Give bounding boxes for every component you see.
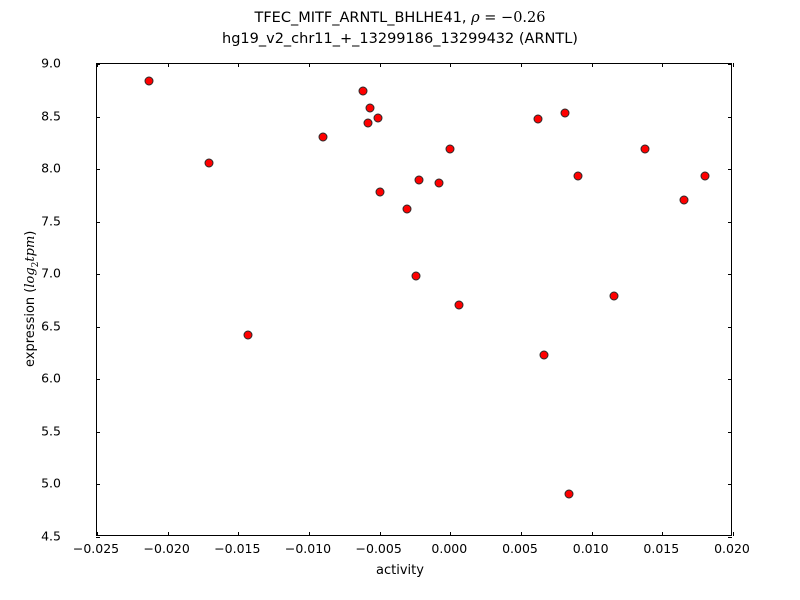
x-axis-tick-label: 0.020	[714, 541, 750, 556]
y-axis-tick-label: 7.0	[41, 266, 61, 281]
scatter-point	[145, 76, 154, 85]
x-axis-tick-label: 0.000	[431, 541, 467, 556]
x-axis-tick-top	[450, 63, 451, 67]
y-axis-tick-right	[728, 484, 732, 485]
y-axis-tick-right	[728, 327, 732, 328]
x-axis-tick-top	[592, 63, 593, 67]
y-axis-tick-label: 8.0	[41, 161, 61, 176]
scatter-point	[446, 145, 455, 154]
y-axis-label-prefix: expression (	[23, 288, 38, 367]
y-axis-tick	[96, 222, 100, 223]
scatter-point	[679, 195, 688, 204]
scatter-point	[533, 114, 542, 123]
y-axis-tick-right	[728, 64, 732, 65]
x-axis-tick-label: −0.025	[73, 541, 119, 556]
y-axis-tick	[96, 379, 100, 380]
scatter-point	[412, 272, 421, 281]
scatter-point	[319, 132, 328, 141]
scatter-point	[573, 172, 582, 181]
y-axis-tick	[96, 274, 100, 275]
scatter-point	[415, 175, 424, 184]
x-axis-tick	[97, 532, 98, 536]
y-axis-tick	[96, 169, 100, 170]
x-axis-tick	[450, 532, 451, 536]
y-axis-tick	[96, 484, 100, 485]
scatter-point	[374, 113, 383, 122]
y-axis-tick-label: 8.5	[41, 108, 61, 123]
scatter-point	[244, 331, 253, 340]
x-axis-tick-label: −0.015	[214, 541, 260, 556]
y-axis-label-tpm: tpm	[23, 236, 38, 262]
y-axis-tick	[96, 432, 100, 433]
scatter-point	[560, 109, 569, 118]
x-axis-tick-label: 0.005	[502, 541, 538, 556]
x-axis-tick-top	[168, 63, 169, 67]
scatter-point	[364, 118, 373, 127]
y-axis-tick-label: 6.0	[41, 371, 61, 386]
chart-title: TFEC_MITF_ARNTL_BHLHE41, ρ = −0.26 hg19_…	[0, 8, 800, 50]
x-axis-tick-top	[309, 63, 310, 67]
x-axis-tick-label: 0.015	[643, 541, 679, 556]
scatter-point	[375, 188, 384, 197]
plot-area	[96, 63, 732, 536]
y-axis-tick-label: 5.0	[41, 476, 61, 491]
y-axis-tick-right	[728, 222, 732, 223]
x-axis-tick	[733, 532, 734, 536]
scatter-point	[454, 300, 463, 309]
scatter-point	[358, 87, 367, 96]
scatter-point	[565, 489, 574, 498]
x-axis-tick	[168, 532, 169, 536]
y-axis-tick-label: 7.5	[41, 213, 61, 228]
scatter-point	[610, 292, 619, 301]
scatter-point	[402, 205, 411, 214]
y-axis-tick-right	[728, 169, 732, 170]
y-axis-tick-right	[728, 432, 732, 433]
rho-symbol: ρ	[471, 10, 480, 26]
scatter-point	[365, 104, 374, 113]
x-axis-tick	[592, 532, 593, 536]
scatter-point	[700, 172, 709, 181]
x-axis-tick-top	[733, 63, 734, 67]
x-axis-tick	[662, 532, 663, 536]
y-axis-tick-label: 6.5	[41, 318, 61, 333]
y-axis-tick-right	[728, 117, 732, 118]
x-axis-tick-label: 0.010	[573, 541, 609, 556]
x-axis-tick	[521, 532, 522, 536]
scatter-point	[204, 158, 213, 167]
x-axis-tick-label: −0.020	[144, 541, 190, 556]
y-axis-tick	[96, 117, 100, 118]
y-axis-tick	[96, 537, 100, 538]
chart-title-line-1: TFEC_MITF_ARNTL_BHLHE41, ρ = −0.26	[0, 8, 800, 29]
y-axis-tick	[96, 327, 100, 328]
x-axis-tick	[380, 532, 381, 536]
scatter-plot-figure: TFEC_MITF_ARNTL_BHLHE41, ρ = −0.26 hg19_…	[0, 0, 800, 600]
x-axis-tick-top	[662, 63, 663, 67]
y-axis-label-sub: 2	[31, 262, 41, 268]
scatter-point	[641, 145, 650, 154]
y-axis-tick-label: 5.5	[41, 423, 61, 438]
scatter-point	[435, 178, 444, 187]
y-axis-label-suffix: )	[23, 231, 38, 236]
y-axis-tick-label: 9.0	[41, 56, 61, 71]
y-axis-tick	[96, 64, 100, 65]
rho-value: = −0.26	[480, 10, 546, 26]
x-axis-tick-top	[521, 63, 522, 67]
scatter-point	[539, 351, 548, 360]
y-axis-tick-right	[728, 274, 732, 275]
chart-title-line-2: hg19_v2_chr11_+_13299186_13299432 (ARNTL…	[0, 29, 800, 50]
x-axis-tick-top	[380, 63, 381, 67]
y-axis-tick-right	[728, 537, 732, 538]
x-axis-label: activity	[0, 563, 800, 578]
x-axis-tick-label: −0.005	[356, 541, 402, 556]
x-axis-tick-label: −0.010	[285, 541, 331, 556]
y-axis-tick-right	[728, 379, 732, 380]
chart-title-line-1-text: TFEC_MITF_ARNTL_BHLHE41,	[254, 10, 471, 26]
y-axis-tick-label: 4.5	[41, 529, 61, 544]
x-axis-tick	[309, 532, 310, 536]
x-axis-tick-top	[238, 63, 239, 67]
x-axis-tick	[238, 532, 239, 536]
y-axis-label-log: log	[23, 267, 38, 287]
y-axis-label: expression (log2tpm)	[23, 149, 41, 449]
